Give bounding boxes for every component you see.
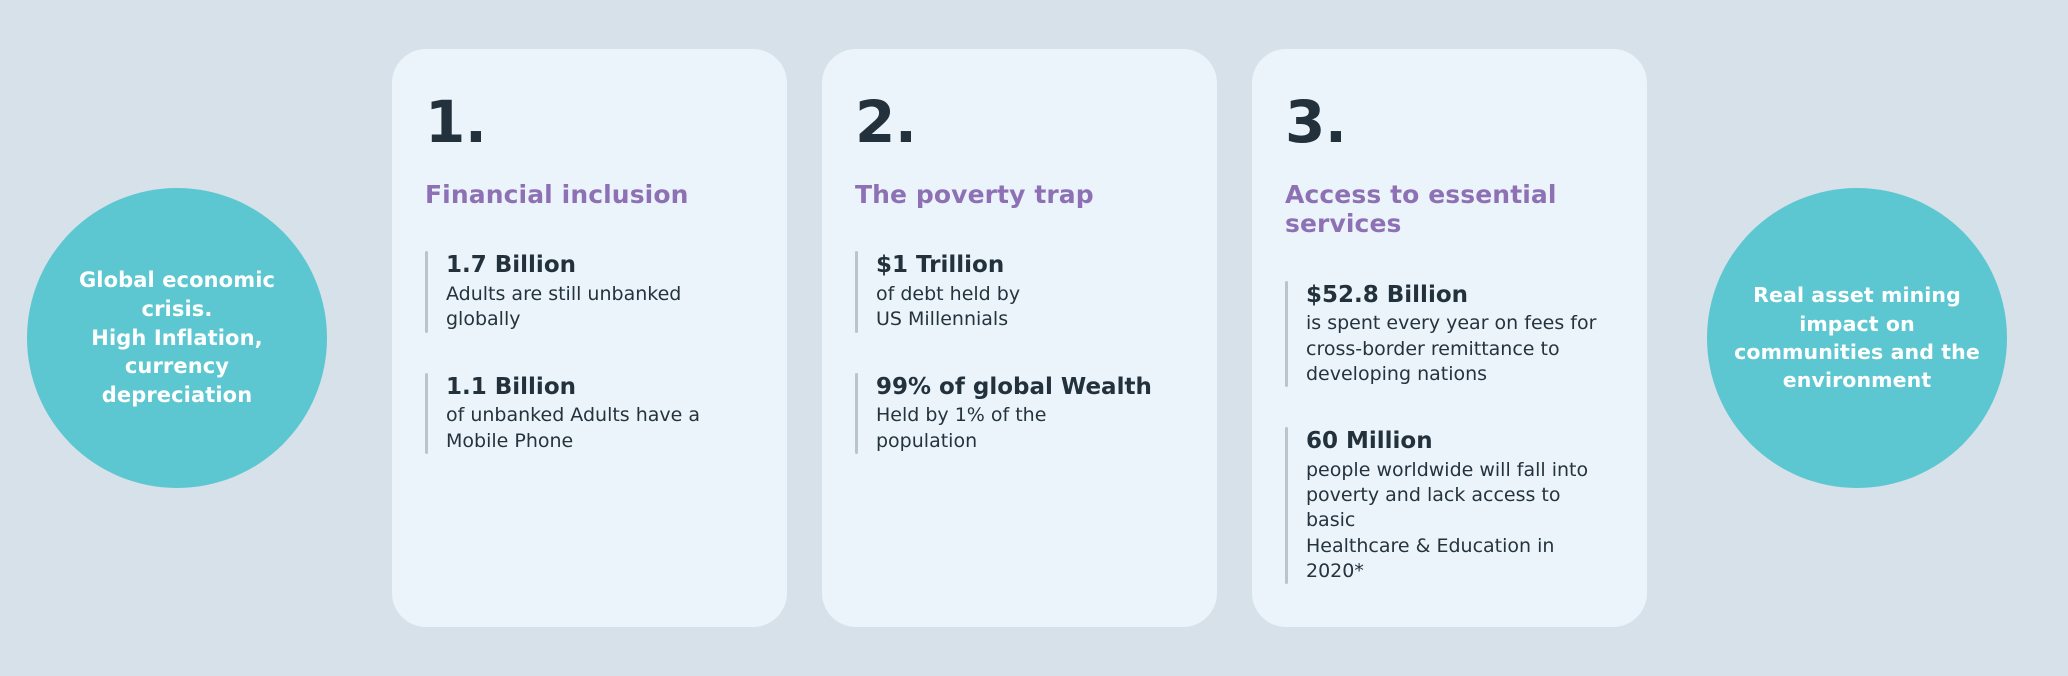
stat-value: 1.1 Billion: [446, 373, 700, 402]
accent-bar-icon: [855, 251, 858, 332]
stat-description: of unbanked Adults have a Mobile Phone: [446, 403, 700, 454]
left-circle-text: Global economic crisis. High Inflation, …: [65, 266, 289, 411]
stat-description: is spent every year on fees for cross-bo…: [1306, 311, 1596, 387]
cards-row: 1. Financial inclusion 1.7 Billion Adult…: [392, 49, 1647, 627]
stat-block: 99% of global Wealth Held by 1% of the p…: [855, 373, 1173, 454]
stat-block: $52.8 Billion is spent every year on fee…: [1285, 281, 1603, 388]
card-3-number: 3.: [1285, 93, 1603, 151]
right-context-circle: Real asset mining impact on communities …: [1707, 188, 2007, 488]
stat-body: $1 Trillion of debt held by US Millennia…: [876, 251, 1020, 332]
stat-value: 1.7 Billion: [446, 251, 681, 280]
card-3-heading: Access to essential services: [1285, 180, 1603, 239]
stat-body: 1.1 Billion of unbanked Adults have a Mo…: [446, 373, 700, 454]
stat-body: 1.7 Billion Adults are still unbanked gl…: [446, 251, 681, 332]
card-1-stats: 1.7 Billion Adults are still unbanked gl…: [425, 251, 743, 454]
infographic-canvas: Global economic crisis. High Inflation, …: [0, 0, 2068, 676]
stat-block: 60 Million people worldwide will fall in…: [1285, 427, 1603, 584]
right-circle-text: Real asset mining impact on communities …: [1720, 281, 1994, 394]
accent-bar-icon: [1285, 281, 1288, 388]
stat-body: $52.8 Billion is spent every year on fee…: [1306, 281, 1596, 388]
accent-bar-icon: [855, 373, 858, 454]
card-2-number: 2.: [855, 93, 1173, 151]
card-1-heading: Financial inclusion: [425, 180, 743, 209]
stat-description: of debt held by US Millennials: [876, 282, 1020, 333]
stat-block: $1 Trillion of debt held by US Millennia…: [855, 251, 1173, 332]
stat-block: 1.7 Billion Adults are still unbanked gl…: [425, 251, 743, 332]
accent-bar-icon: [1285, 427, 1288, 584]
stat-description: people worldwide will fall into poverty …: [1306, 458, 1603, 584]
stat-value: 60 Million: [1306, 427, 1603, 456]
card-3-stats: $52.8 Billion is spent every year on fee…: [1285, 281, 1603, 585]
accent-bar-icon: [425, 251, 428, 332]
card-3[interactable]: 3. Access to essential services $52.8 Bi…: [1252, 49, 1647, 627]
stat-body: 60 Million people worldwide will fall in…: [1306, 427, 1603, 584]
card-1-number: 1.: [425, 93, 743, 151]
stat-block: 1.1 Billion of unbanked Adults have a Mo…: [425, 373, 743, 454]
stat-value: 99% of global Wealth: [876, 373, 1152, 402]
stat-body: 99% of global Wealth Held by 1% of the p…: [876, 373, 1152, 454]
stat-value: $1 Trillion: [876, 251, 1020, 280]
stat-description: Adults are still unbanked globally: [446, 282, 681, 333]
stat-description: Held by 1% of the population: [876, 403, 1152, 454]
card-1[interactable]: 1. Financial inclusion 1.7 Billion Adult…: [392, 49, 787, 627]
left-context-circle: Global economic crisis. High Inflation, …: [27, 188, 327, 488]
card-2-heading: The poverty trap: [855, 180, 1173, 209]
card-2[interactable]: 2. The poverty trap $1 Trillion of debt …: [822, 49, 1217, 627]
card-2-stats: $1 Trillion of debt held by US Millennia…: [855, 251, 1173, 454]
stat-value: $52.8 Billion: [1306, 281, 1596, 310]
accent-bar-icon: [425, 373, 428, 454]
